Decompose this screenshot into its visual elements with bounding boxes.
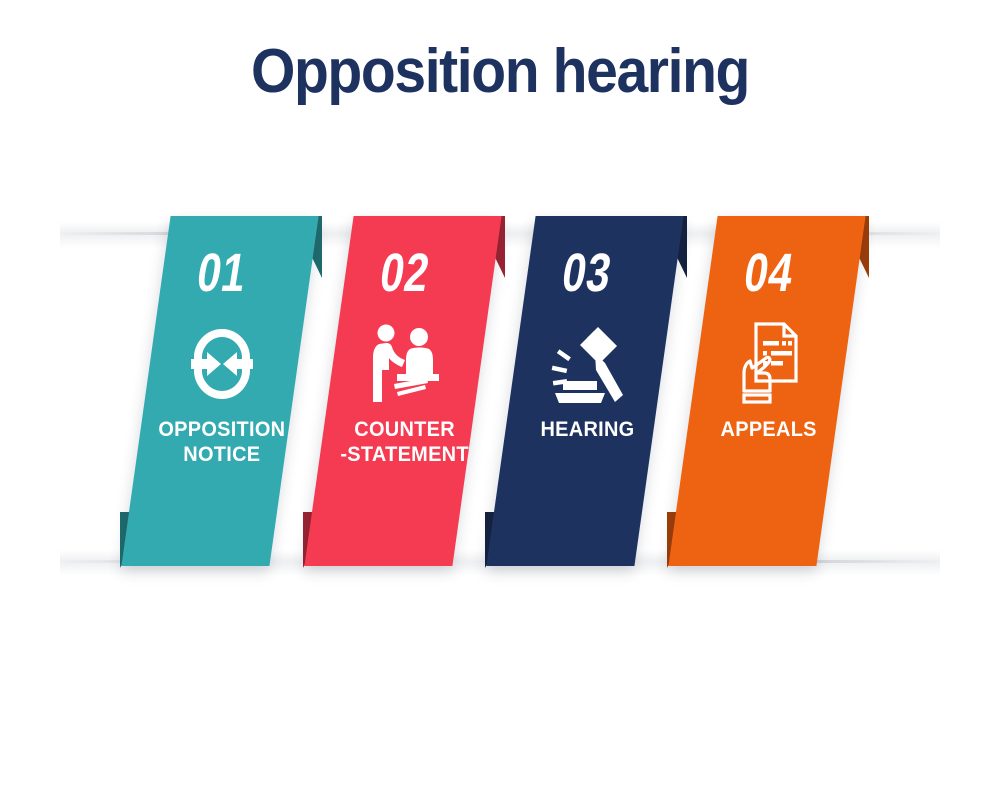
step-card-1[interactable]: 01 OPPOSITION NOTICE [146,216,294,566]
step-card-2[interactable]: 02 COUNTER -STATEMENT [329,216,477,566]
card-content: 04 [695,216,843,566]
process-steps-diagram: 01 OPPOSITION NOTICE [0,200,1000,600]
step-number: 03 [559,246,616,300]
card-content: 02 COUNTER -STATEMENT [331,216,479,566]
gavel-icon [547,322,627,406]
step-label: COUNTER -STATEMENT [337,418,473,468]
step-number: 02 [377,246,434,300]
step-label: HEARING [536,418,638,443]
opposing-arrows-icon [183,322,261,406]
document-handover-icon [367,322,443,406]
step-label: OPPOSITION NOTICE [155,418,290,468]
step-number: 04 [741,246,798,300]
card-content: 03 HEARING [513,216,661,566]
step-card-3[interactable]: 03 HEARING [511,216,659,566]
page-title: Opposition hearing [40,36,960,107]
hand-holding-document-icon [736,322,802,406]
step-number: 01 [194,246,251,300]
step-label: APPEALS [717,418,821,443]
step-card-4[interactable]: 04 [693,216,841,566]
card-content: 01 OPPOSITION NOTICE [148,216,296,566]
